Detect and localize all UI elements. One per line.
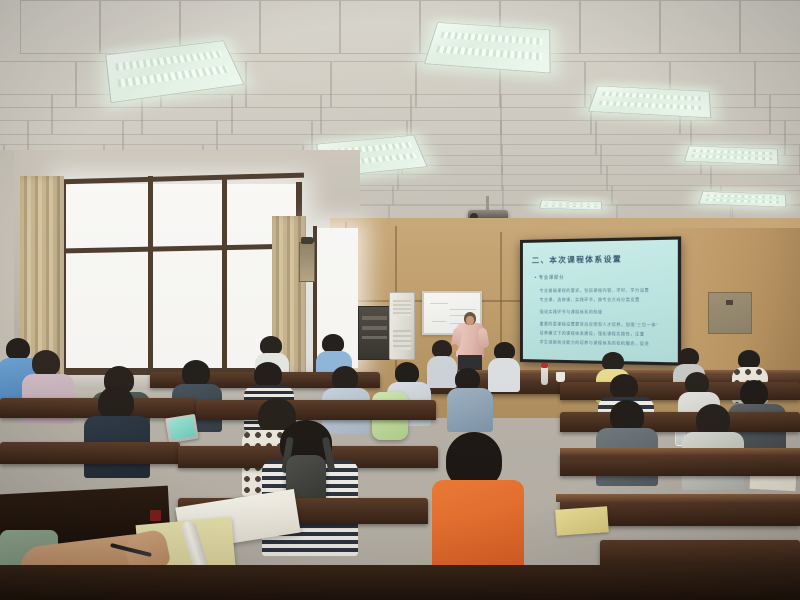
speaker-bracket-icon (301, 237, 313, 244)
ac-vent-icon (393, 300, 411, 316)
attendee-hair (685, 372, 709, 394)
slide-body-line: 强化实践环节与课程体系的衔接 (540, 309, 603, 315)
whiteboard-writing (450, 309, 476, 310)
ceiling-tile (260, 0, 340, 54)
ceiling-tile (340, 0, 420, 54)
bench-backrest (560, 412, 800, 432)
attendee-hair (6, 338, 30, 360)
attendee-hair (455, 368, 480, 390)
whiteboard-writing (432, 321, 446, 322)
equipment-rack (358, 306, 391, 360)
slide-subheading: • 专业课部分 (535, 275, 565, 281)
attendee-hair (395, 362, 419, 384)
bench-desk-top (556, 494, 800, 502)
ac-grill-icon (393, 330, 411, 350)
attendee-hair (32, 350, 60, 376)
bottle-cap (541, 363, 548, 368)
attendee-torso (447, 388, 493, 432)
projection-screen-frame: 二、本次课程体系设置 • 专业课部分 专业基础课程的要求，包括课程内容、学时、学… (520, 236, 681, 365)
wall-recess-fixture-icon (726, 300, 733, 305)
rack-slot (362, 336, 387, 339)
ceiling-tile (100, 0, 180, 54)
bench-desk-top (560, 448, 800, 455)
whiteboard-writing (430, 303, 448, 304)
window-frame-vertical (148, 176, 153, 374)
attendee-hair (610, 374, 638, 399)
ceiling-tile (660, 0, 740, 54)
rack-slot (362, 326, 387, 330)
water-bottle (541, 366, 548, 385)
attendee-hair (182, 360, 210, 386)
ceiling-tile (740, 0, 800, 54)
presenter-hand (451, 344, 458, 352)
attendee-torso (427, 356, 457, 388)
classroom-photo: 二、本次课程体系设置 • 专业课部分 专业基础课程的要求，包括课程内容、学时、学… (0, 0, 800, 600)
attendee-torso (488, 358, 520, 392)
attendee-hair (98, 386, 134, 420)
tablet-screen[interactable] (169, 416, 196, 440)
slide-body-line: 培养模式下的课程体系建设，强化课程实践性，注重 (540, 330, 645, 337)
bench-backrest (560, 452, 800, 476)
ceiling-light-panel (539, 200, 602, 210)
wall-speaker-icon (299, 242, 315, 282)
slide-body-line: 学生创新创业能力的培养与课程体系的有机融合，促进 (540, 339, 650, 347)
slide-body-line: 专业基础课程的要求，包括课程内容、学时、学分设置 (540, 287, 650, 294)
slide-title: 二、本次课程体系设置 (532, 253, 622, 266)
small-red-object (150, 510, 161, 521)
ceiling-tile (20, 0, 100, 54)
wall-recess-panel (708, 292, 752, 334)
slide-body-line: 重要的是课程设置要突出应用型人才培养，加强"三位一体" (540, 321, 659, 328)
bench-backrest (196, 400, 436, 420)
projection-screen: 二、本次课程体系设置 • 专业课部分 专业基础课程的要求，包括课程内容、学时、学… (523, 240, 678, 363)
attendee-hair (740, 380, 768, 406)
attendee-hair (254, 362, 282, 387)
ceiling-tile (580, 0, 660, 54)
window-frame-vertical (222, 178, 227, 374)
presenter-face (466, 316, 474, 325)
foreground-desk-shadow (0, 565, 800, 600)
attendee-torso (432, 480, 524, 578)
bench-backrest (0, 442, 180, 464)
paper-cup (556, 372, 565, 382)
attendee-hair (332, 366, 358, 390)
slide-body-line: 专业课、选修课、实践环节，按专业方向分类设置 (540, 297, 640, 303)
yellow-notepad (555, 506, 609, 536)
rack-slot (362, 316, 387, 320)
